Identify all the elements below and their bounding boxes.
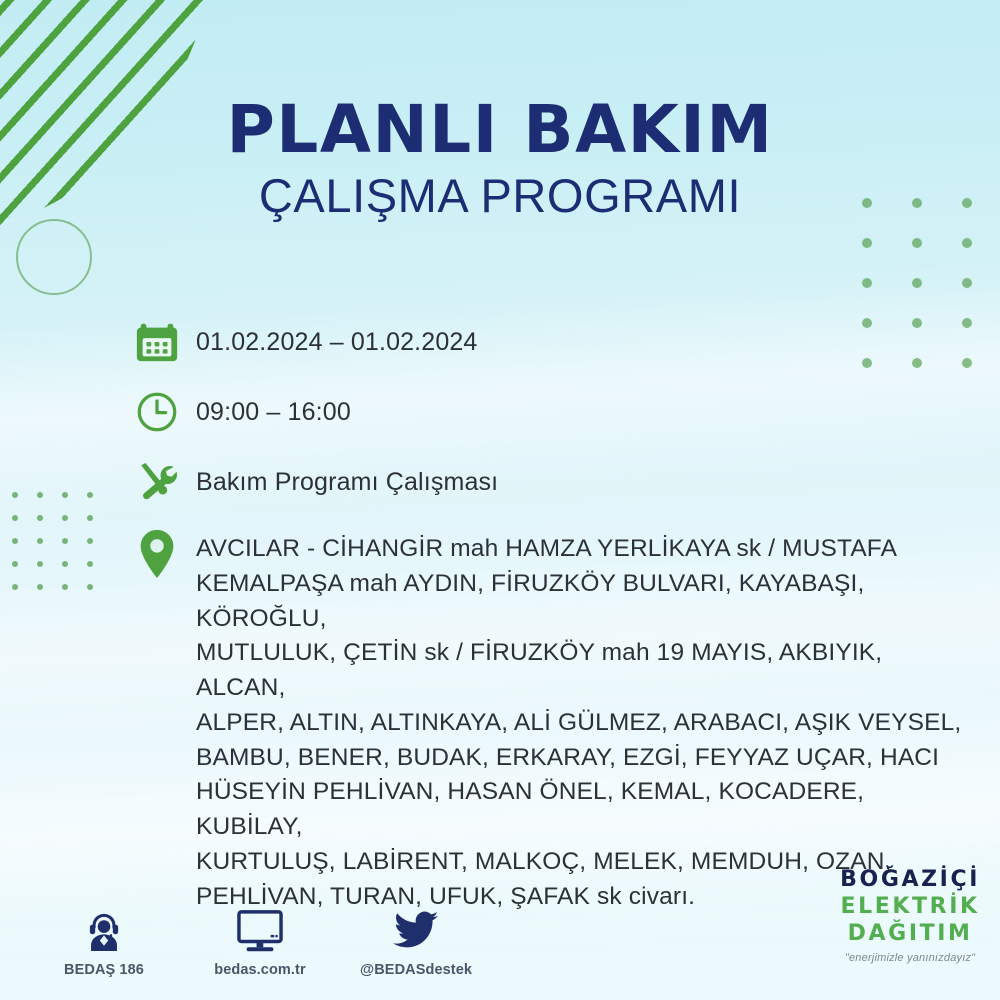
- maintenance-details: 01.02.2024 – 01.02.2024 09:00 – 16:00: [134, 318, 974, 915]
- page-subtitle: ÇALIŞMA PROGRAMI: [0, 171, 1000, 220]
- twitter-bird-icon: [360, 903, 472, 953]
- contact-list: BEDAŞ 186 bedas.com.tr: [48, 903, 472, 978]
- logo-line-dagitim: DAĞITIM: [840, 923, 980, 945]
- date-range-value: 01.02.2024 – 01.02.2024: [196, 318, 478, 360]
- planned-maintenance-poster: PLANLI BAKIM ÇALIŞMA PROGRAMI: [0, 0, 1000, 1000]
- detail-row-worktype: Bakım Programı Çalışması: [134, 458, 974, 506]
- tools-icon: [134, 458, 196, 506]
- circle-outline-decoration: [16, 219, 92, 295]
- detail-row-address: AVCILAR - CİHANGİR mah HAMZA YERLİKAYA s…: [134, 528, 974, 915]
- logo-tagline: "enerjimizle yanınızdayız": [840, 953, 980, 964]
- contact-twitter[interactable]: @BEDASdestek: [360, 903, 472, 978]
- clock-icon: [134, 388, 196, 436]
- call-center-agent-icon: [48, 903, 160, 953]
- dot-grid-decoration-left: [12, 492, 112, 607]
- work-type-value: Bakım Programı Çalışması: [196, 458, 498, 500]
- poster-header: PLANLI BAKIM ÇALIŞMA PROGRAMI: [0, 96, 1000, 221]
- contact-website[interactable]: bedas.com.tr: [204, 903, 316, 978]
- detail-row-time: 09:00 – 16:00: [134, 388, 974, 436]
- logo-line-elektrik: ELEKTRİK: [840, 896, 980, 918]
- calendar-icon: [134, 318, 196, 366]
- time-range-value: 09:00 – 16:00: [196, 388, 351, 430]
- contact-phone[interactable]: BEDAŞ 186: [48, 903, 160, 978]
- location-pin-icon: [134, 528, 196, 576]
- poster-footer: BEDAŞ 186 bedas.com.tr: [0, 874, 1000, 984]
- contact-website-label: bedas.com.tr: [204, 962, 316, 978]
- bedas-logo: BOĞAZİÇİ ELEKTRİK DAĞITIM "enerjimizle y…: [840, 869, 980, 964]
- page-title: PLANLI BAKIM: [0, 96, 1000, 163]
- contact-phone-label: BEDAŞ 186: [48, 962, 160, 978]
- monitor-icon: [204, 903, 316, 953]
- detail-row-date: 01.02.2024 – 01.02.2024: [134, 318, 974, 366]
- address-value: AVCILAR - CİHANGİR mah HAMZA YERLİKAYA s…: [196, 528, 974, 915]
- logo-line-bogazici: BOĞAZİÇİ: [840, 869, 980, 891]
- contact-twitter-label: @BEDASdestek: [360, 962, 472, 978]
